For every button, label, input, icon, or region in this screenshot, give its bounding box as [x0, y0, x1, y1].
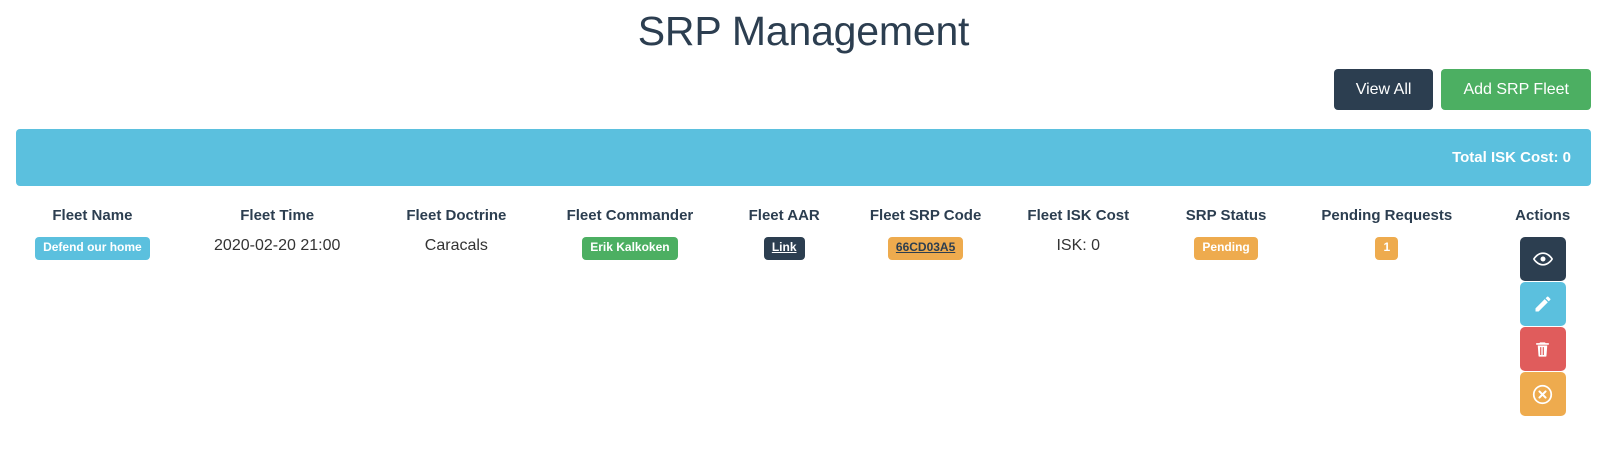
add-srp-fleet-button[interactable]: Add SRP Fleet [1441, 69, 1591, 110]
cell-fleet-commander: Erik Kalkoken [543, 231, 717, 422]
fleet-time-value: 2020-02-20 21:00 [214, 237, 340, 254]
fleet-isk-cost-value: ISK: 0 [1056, 237, 1100, 254]
action-buttons-stack [1482, 237, 1603, 416]
total-isk-cost-label: Total ISK Cost: 0 [1452, 149, 1571, 166]
view-all-button[interactable]: View All [1334, 69, 1434, 110]
cell-fleet-isk-cost: ISK: 0 [1000, 231, 1157, 422]
column-header-fleet-aar: Fleet AAR [717, 200, 852, 231]
fleet-commander-badge[interactable]: Erik Kalkoken [582, 237, 677, 259]
column-header-actions: Actions [1478, 200, 1607, 231]
cell-pending-requests: 1 [1295, 231, 1478, 422]
column-header-fleet-commander: Fleet Commander [543, 200, 717, 231]
cell-fleet-aar: Link [717, 231, 852, 422]
column-header-fleet-time: Fleet Time [185, 200, 370, 231]
srp-status-badge: Pending [1194, 237, 1257, 259]
column-header-srp-status: SRP Status [1157, 200, 1295, 231]
trash-icon [1533, 340, 1552, 359]
disable-srp-fleet-button[interactable] [1520, 372, 1566, 416]
fleet-name-badge[interactable]: Defend our home [35, 237, 150, 259]
cell-fleet-name: Defend our home [0, 231, 185, 422]
srp-management-page: SRP Management View All Add SRP Fleet To… [0, 0, 1607, 466]
page-title: SRP Management [0, 0, 1607, 55]
cell-actions [1478, 231, 1607, 422]
srp-fleet-table: Fleet Name Fleet Time Fleet Doctrine Fle… [0, 200, 1607, 422]
toolbar: View All Add SRP Fleet [0, 69, 1607, 110]
table-row: Defend our home 2020-02-20 21:00 Caracal… [0, 231, 1607, 422]
fleet-aar-link[interactable]: Link [764, 237, 805, 259]
column-header-fleet-name: Fleet Name [0, 200, 185, 231]
table-header-row: Fleet Name Fleet Time Fleet Doctrine Fle… [0, 200, 1607, 231]
circle-x-icon [1532, 384, 1553, 405]
column-header-pending-requests: Pending Requests [1295, 200, 1478, 231]
eye-icon [1533, 249, 1553, 269]
total-isk-cost-banner: Total ISK Cost: 0 [16, 129, 1591, 186]
cell-fleet-srp-code: 66CD03A5 [852, 231, 1000, 422]
fleet-srp-code-link[interactable]: 66CD03A5 [888, 237, 963, 259]
delete-srp-fleet-button[interactable] [1520, 327, 1566, 371]
pending-requests-badge: 1 [1375, 237, 1398, 259]
cell-fleet-time: 2020-02-20 21:00 [185, 231, 370, 422]
edit-srp-fleet-button[interactable] [1520, 282, 1566, 326]
view-srp-fleet-button[interactable] [1520, 237, 1566, 281]
column-header-fleet-isk-cost: Fleet ISK Cost [1000, 200, 1157, 231]
fleet-doctrine-value: Caracals [425, 237, 488, 254]
cell-fleet-doctrine: Caracals [370, 231, 544, 422]
column-header-fleet-doctrine: Fleet Doctrine [370, 200, 544, 231]
pencil-icon [1533, 294, 1553, 314]
cell-srp-status: Pending [1157, 231, 1295, 422]
column-header-fleet-srp-code: Fleet SRP Code [852, 200, 1000, 231]
